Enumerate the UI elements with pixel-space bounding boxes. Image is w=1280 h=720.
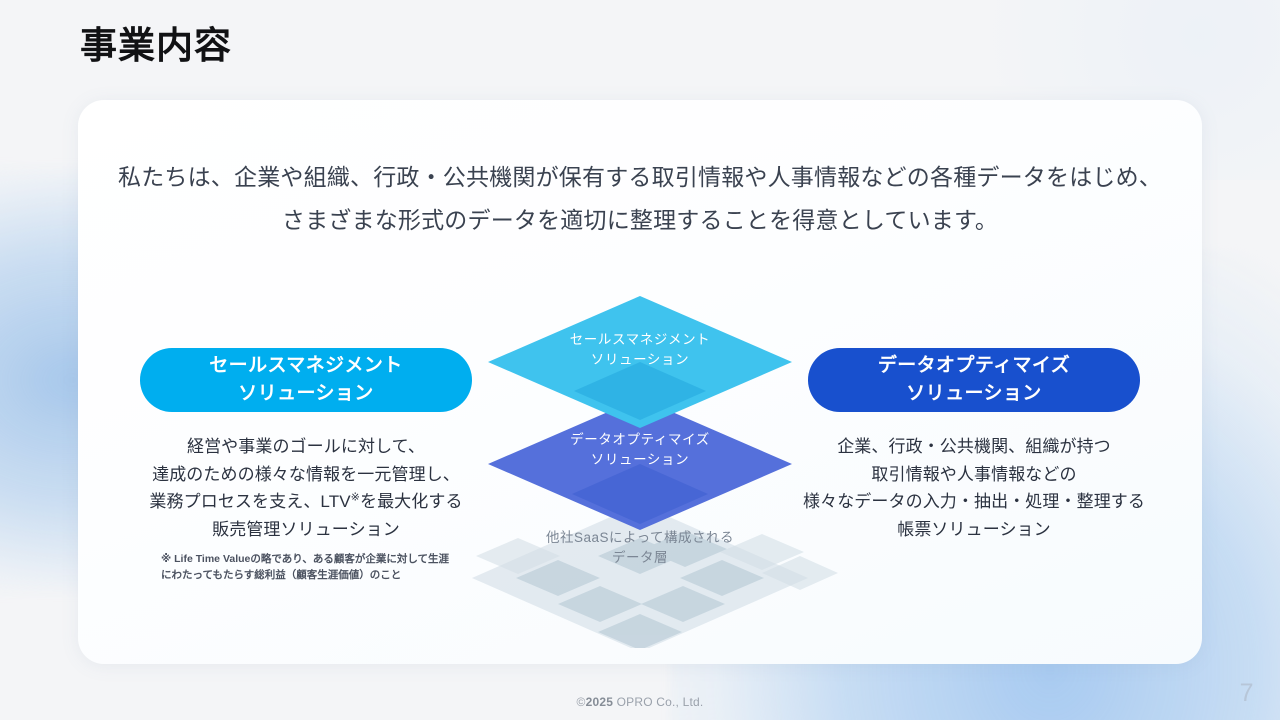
data-desc-line-4: 帳票ソリューション (794, 516, 1154, 544)
sales-desc-line-3-main: 業務プロセスを支え、LTV (149, 492, 350, 511)
lead-line-1: 私たちは、企業や組織、行政・公共機関が保有する取引情報や人事情報などの各種データ… (78, 156, 1202, 199)
pill-sales-management-solution[interactable]: セールスマネジメント ソリューション (140, 348, 472, 412)
isometric-diagram-svg (440, 288, 840, 648)
pill-data-optimize-solution[interactable]: データオプティマイズ ソリューション (808, 348, 1140, 412)
sales-desc-line-3: 業務プロセスを支え、LTV※を最大化する (126, 488, 486, 516)
page-number: 7 (1240, 679, 1254, 708)
data-desc-line-2: 取引情報や人事情報などの (794, 461, 1154, 489)
isometric-layer-diagram: セールスマネジメント ソリューション データオプティマイズ ソリューション 他社… (440, 288, 840, 648)
sales-desc-line-4: 販売管理ソリューション (126, 516, 486, 544)
diagram-layer-sales-management (488, 296, 792, 428)
data-optimize-description: 企業、行政・公共機関、組織が持つ 取引情報や人事情報などの 様々なデータの入力・… (794, 433, 1154, 543)
lead-paragraph: 私たちは、企業や組織、行政・公共機関が保有する取引情報や人事情報などの各種データ… (78, 156, 1202, 241)
pill-data-line-1: データオプティマイズ (878, 352, 1070, 380)
lead-line-2: さまざまな形式のデータを適切に整理することを得意としています。 (78, 199, 1202, 242)
pill-sales-line-1: セールスマネジメント (209, 352, 402, 380)
sales-desc-line-1: 経営や事業のゴールに対して、 (126, 433, 486, 461)
data-desc-line-3: 様々なデータの入力・抽出・処理・整理する (794, 488, 1154, 516)
diagram-layer-base (472, 504, 838, 648)
data-desc-line-1: 企業、行政・公共機関、組織が持つ (794, 433, 1154, 461)
column-data-optimize: データオプティマイズ ソリューション 企業、行政・公共機関、組織が持つ 取引情報… (794, 348, 1154, 543)
column-sales-management: セールスマネジメント ソリューション 経営や事業のゴールに対して、 達成のための… (126, 348, 486, 584)
pill-data-line-2: ソリューション (906, 380, 1041, 408)
copyright-symbol: © (577, 695, 586, 709)
ltv-footnote: ※ Life Time Valueの略であり、ある顧客が企業に対して生涯にわたっ… (161, 552, 451, 584)
copyright-year: 2025 (586, 695, 614, 709)
pill-sales-line-2: ソリューション (238, 380, 373, 408)
copyright-owner: OPRO Co., Ltd. (613, 695, 703, 709)
sales-management-description: 経営や事業のゴールに対して、 達成のための様々な情報を一元管理し、 業務プロセス… (126, 433, 486, 543)
sales-desc-line-2: 達成のための様々な情報を一元管理し、 (126, 461, 486, 489)
slide-root: 事業内容 私たちは、企業や組織、行政・公共機関が保有する取引情報や人事情報などの… (0, 0, 1280, 720)
page-title: 事業内容 (80, 22, 232, 70)
content-card: 私たちは、企業や組織、行政・公共機関が保有する取引情報や人事情報などの各種データ… (78, 100, 1202, 664)
footnote-reference-mark: ※ (351, 491, 360, 503)
footer-copyright: ©2025 OPRO Co., Ltd. (0, 695, 1280, 709)
